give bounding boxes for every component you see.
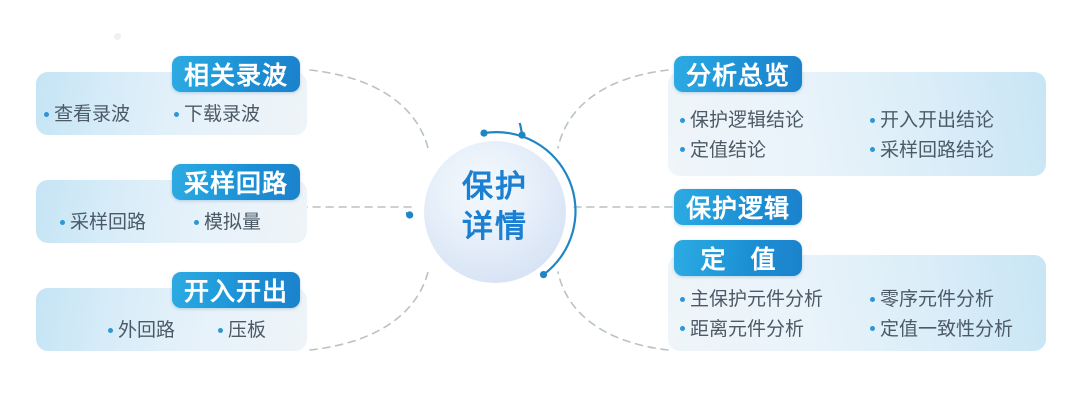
item-label: 定值结论	[690, 140, 766, 162]
mindmap-diagram: 相关录波 查看录波 下载录波 采样回路 采样回路 模拟量 开入开出 外回路	[0, 0, 1080, 417]
item-label: 零序元件分析	[880, 289, 994, 311]
items-analysis-overview: 保护逻辑结论 开入开出结论 定值结论 采样回路结论	[680, 102, 1042, 170]
pill-related-waveform[interactable]: 相关录波	[172, 56, 300, 92]
ring-dot-b-start	[480, 130, 487, 137]
ring-dot-b-end	[540, 271, 547, 278]
center-title: 保护 详情	[406, 167, 584, 246]
item-label: 定值一致性分析	[880, 319, 1013, 341]
bullet-icon	[194, 220, 199, 225]
list-item[interactable]: 查看录波	[44, 104, 174, 126]
list-item[interactable]: 开入开出结论	[870, 110, 1040, 132]
list-item[interactable]: 下载录波	[174, 104, 294, 126]
item-label: 采样回路结论	[880, 140, 994, 162]
bullet-icon	[680, 326, 685, 331]
item-label: 距离元件分析	[690, 319, 804, 341]
item-label: 模拟量	[204, 212, 261, 234]
item-label: 采样回路	[70, 212, 146, 234]
bullet-icon	[60, 220, 65, 225]
list-item[interactable]: 零序元件分析	[870, 289, 1040, 311]
item-label: 主保护元件分析	[690, 289, 823, 311]
list-item[interactable]: 距离元件分析	[680, 319, 870, 341]
item-label: 下载录波	[184, 104, 260, 126]
bullet-icon	[44, 112, 49, 117]
list-item[interactable]: 模拟量	[194, 212, 294, 234]
list-item[interactable]: 外回路	[108, 320, 218, 342]
items-related-waveform: 查看录波 下载录波	[44, 100, 302, 130]
pill-setting-value[interactable]: 定 值	[674, 240, 802, 276]
list-item[interactable]: 主保护元件分析	[680, 289, 870, 311]
bullet-icon	[680, 297, 685, 302]
bullet-icon	[870, 297, 875, 302]
pill-sampling-circuit[interactable]: 采样回路	[172, 164, 300, 200]
bullet-icon	[870, 147, 875, 152]
item-label: 保护逻辑结论	[690, 110, 804, 132]
items-digital-io: 外回路 压板	[108, 316, 308, 346]
list-item[interactable]: 保护逻辑结论	[680, 110, 870, 132]
bullet-icon	[174, 112, 179, 117]
item-label: 开入开出结论	[880, 110, 994, 132]
pill-analysis-overview[interactable]: 分析总览	[674, 56, 802, 92]
bullet-icon	[870, 118, 875, 123]
decorative-speck	[114, 33, 121, 40]
pill-protection-logic[interactable]: 保护逻辑	[674, 189, 802, 225]
bullet-icon	[680, 118, 685, 123]
list-item[interactable]: 采样回路结论	[870, 140, 1040, 162]
list-item[interactable]: 定值结论	[680, 140, 870, 162]
list-item[interactable]: 定值一致性分析	[870, 319, 1040, 341]
pill-digital-io[interactable]: 开入开出	[172, 272, 300, 308]
items-setting-value: 主保护元件分析 零序元件分析 距离元件分析 定值一致性分析	[680, 284, 1042, 346]
center-title-line2: 详情	[406, 207, 584, 247]
center-node[interactable]: 保护 详情	[406, 123, 584, 301]
bullet-icon	[218, 328, 223, 333]
item-label: 查看录波	[54, 104, 130, 126]
list-item[interactable]: 采样回路	[60, 212, 194, 234]
item-label: 压板	[228, 320, 266, 342]
center-title-line1: 保护	[406, 167, 584, 207]
list-item[interactable]: 压板	[218, 320, 298, 342]
bullet-icon	[680, 147, 685, 152]
bullet-icon	[108, 328, 113, 333]
item-label: 外回路	[118, 320, 175, 342]
bullet-icon	[870, 326, 875, 331]
items-sampling-circuit: 采样回路 模拟量	[60, 208, 306, 238]
